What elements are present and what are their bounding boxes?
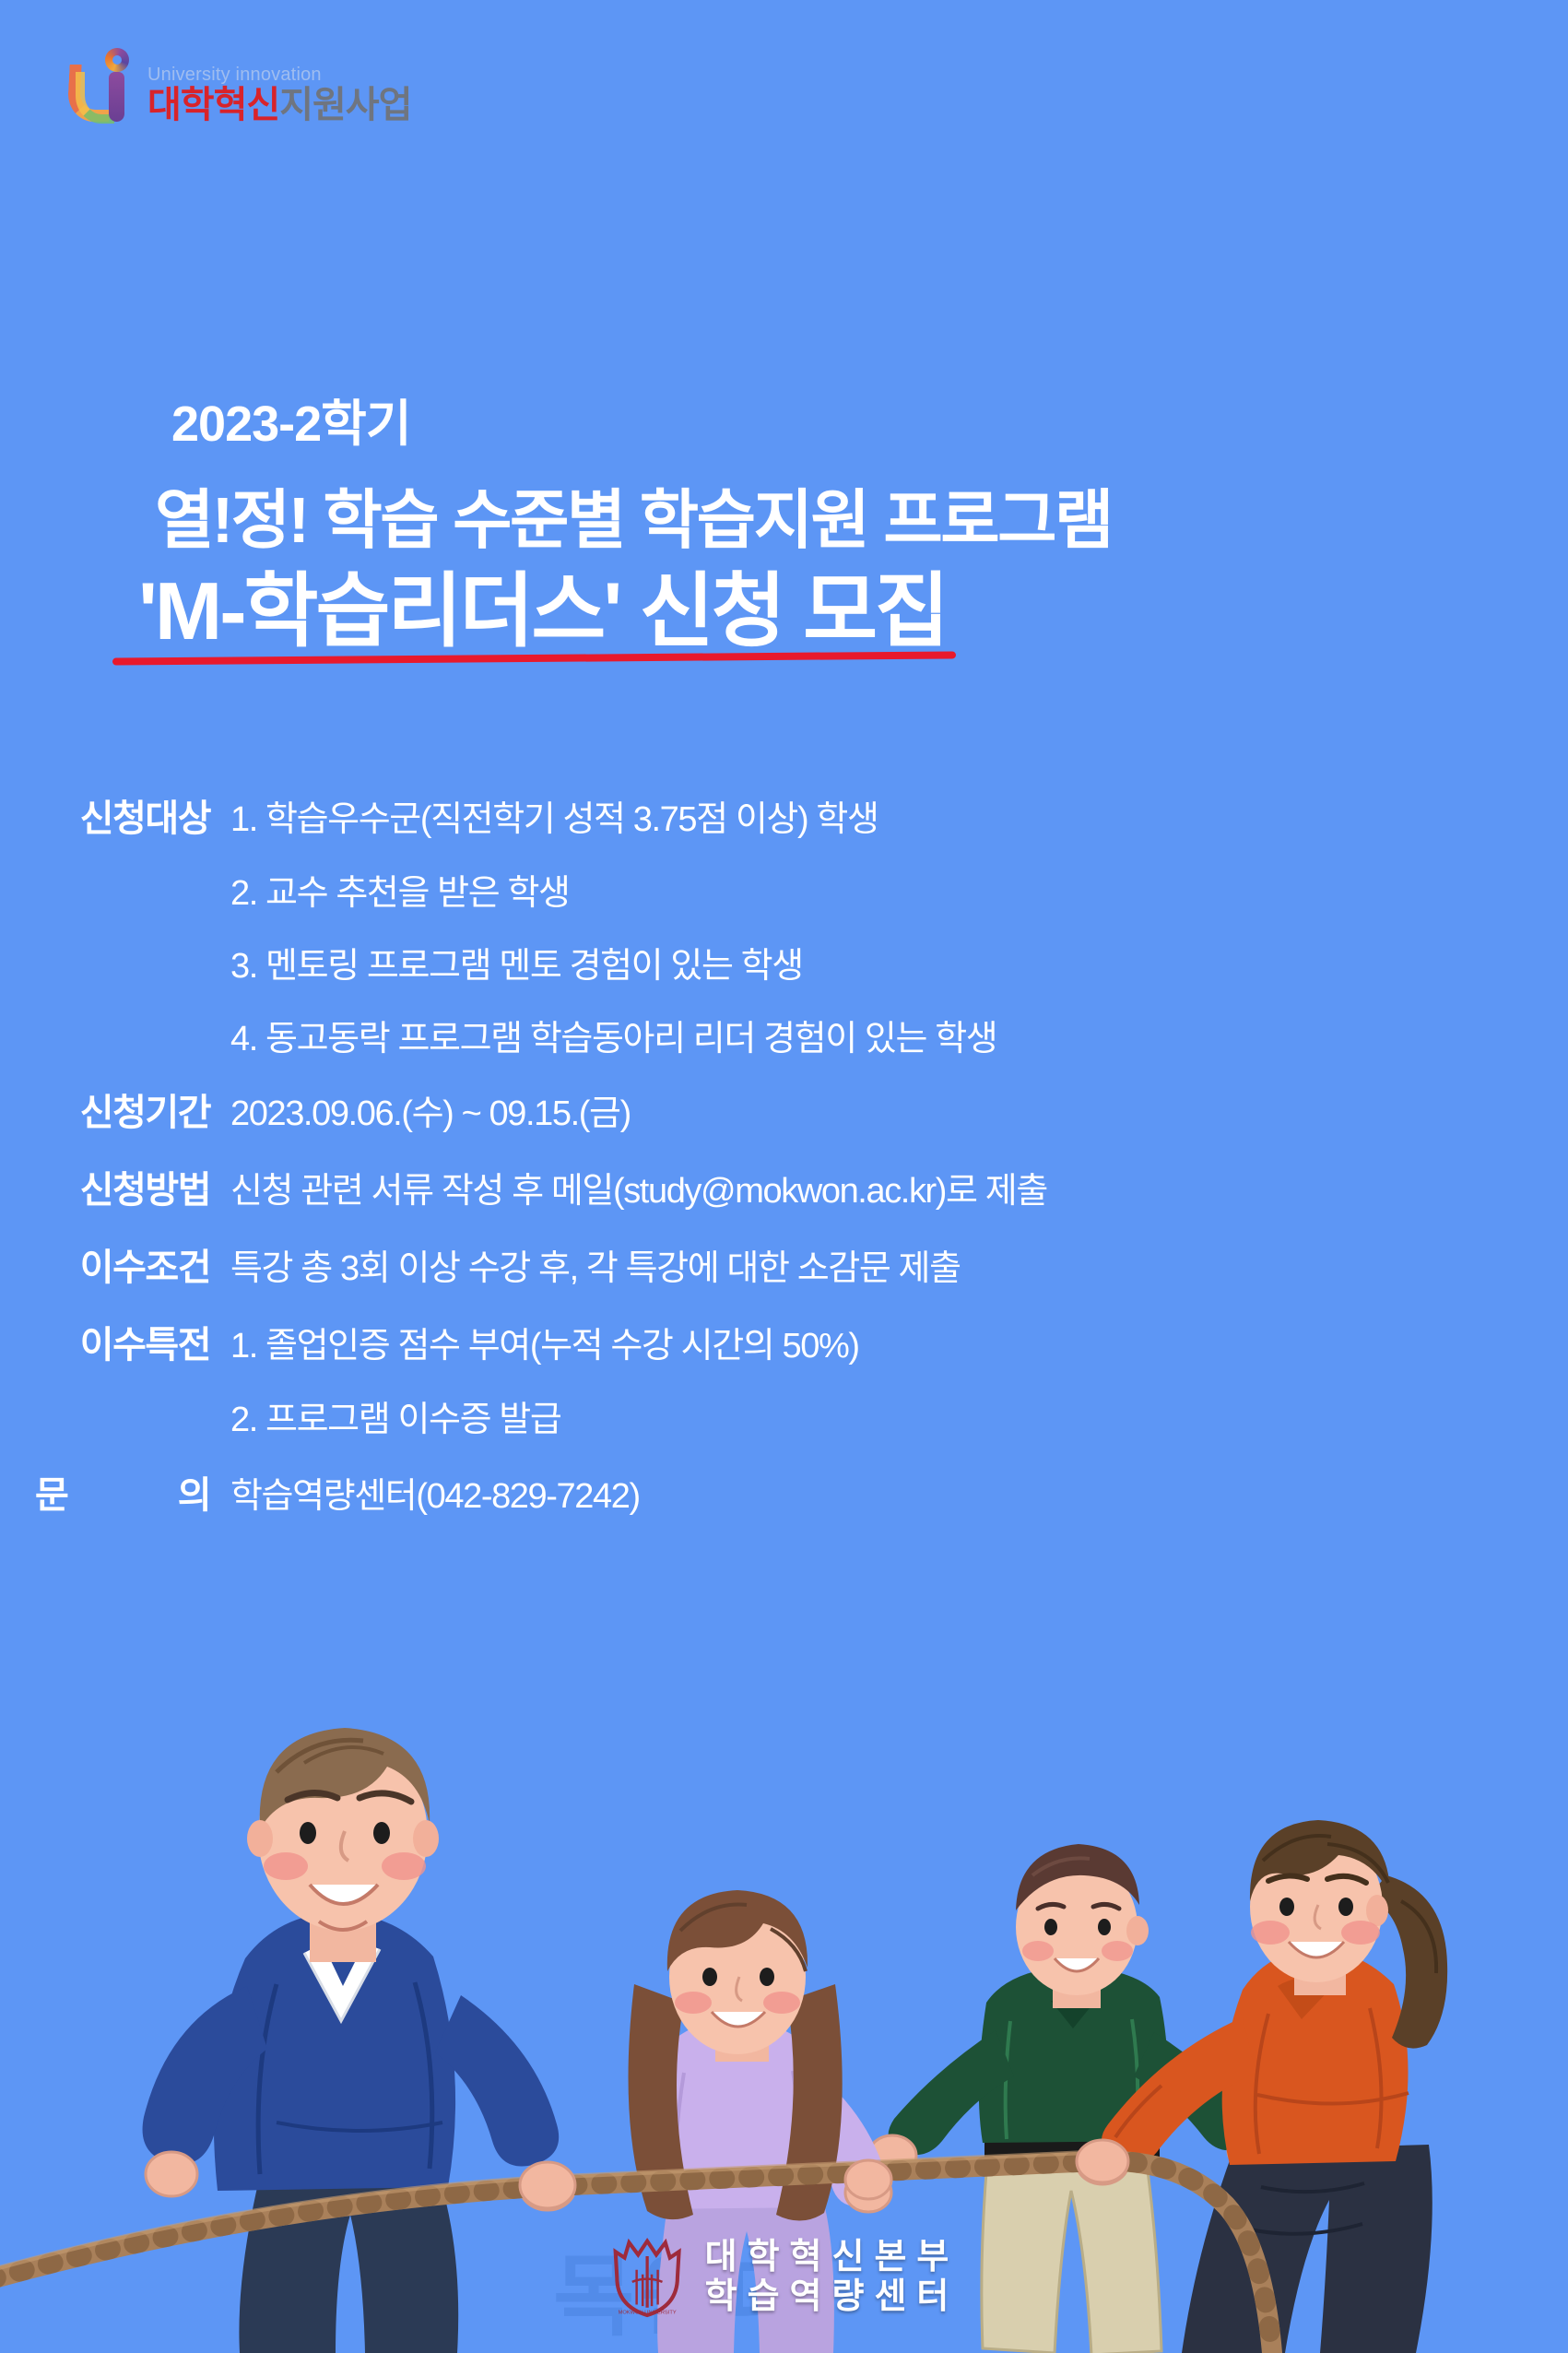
info-row-method: 신청방법 신청 관련 서류 작성 후 메일(study@mokwon.ac.kr… — [0, 1160, 1568, 1213]
info-label-contact-right: 의 — [178, 1465, 210, 1519]
info-value-target-2: 2. 교수 추천을 받은 학생 — [230, 864, 570, 915]
info-row-contact: 문 의 학습역량센터(042-829-7242) — [0, 1465, 1568, 1519]
info-value-method: 신청 관련 서류 작성 후 메일(study@mokwon.ac.kr)로 제출 — [230, 1162, 1047, 1212]
logo-korean-text: 대학혁신지원사업 — [147, 87, 411, 124]
info-label-period: 신청기간 — [0, 1082, 210, 1136]
info-row-benefit: 이수특전 1. 졸업인증 점수 부여(누적 수강 시간의 50%) — [0, 1315, 1568, 1368]
info-label-contact-left: 문 — [35, 1465, 67, 1519]
info-label-benefit: 이수특전 — [0, 1315, 210, 1368]
title-line-1: 열!정! 학습 수준별 학습지원 프로그램 — [155, 468, 1568, 562]
university-innovation-logo: University innovation 대학혁신지원사업 — [66, 44, 411, 125]
info-value-period: 2023.09.06.(수) ~ 09.15.(금) — [230, 1084, 631, 1135]
info-value-target-1: 1. 학습우수군(직전학기 성적 3.75점 이상) 학생 — [230, 790, 878, 841]
logo-text-group: University innovation 대학혁신지원사업 — [147, 65, 411, 125]
footer-line-2: 학습역량센터 — [705, 2277, 960, 2317]
info-row-target: 신청대상 1. 학습우수군(직전학기 성적 3.75점 이상) 학생 — [0, 788, 1568, 842]
logo-korean-gray: 지원사업 — [279, 85, 411, 125]
info-block: 신청대상 1. 학습우수군(직전학기 성적 3.75점 이상) 학생 2. 교수… — [0, 788, 1568, 1543]
info-value-benefit-2: 2. 프로그램 이수증 발급 — [230, 1390, 560, 1441]
info-row-benefit-2: 2. 프로그램 이수증 발급 — [0, 1390, 1568, 1441]
info-value-benefit-1: 1. 졸업인증 점수 부여(누적 수강 시간의 50%) — [230, 1317, 859, 1367]
ui-monogram-icon — [66, 44, 138, 125]
mokwon-university-seal-icon: MOKWON UNIVERSITY — [609, 2235, 685, 2320]
info-label-contact: 문 의 — [0, 1465, 210, 1519]
headline-block: 2023-2학기 열!정! 학습 수준별 학습지원 프로그램 'M-학습리더스'… — [0, 383, 1568, 656]
footer-text-group: 대학혁신본부 학습역량센터 — [705, 2238, 960, 2316]
info-value-condition: 특강 총 3회 이상 수강 후, 각 특강에 대한 소감문 제출 — [230, 1239, 961, 1290]
info-row-period: 신청기간 2023.09.06.(수) ~ 09.15.(금) — [0, 1082, 1568, 1136]
info-row-target-3: 3. 멘토링 프로그램 멘토 경험이 있는 학생 — [0, 937, 1568, 987]
seal-caption: MOKWON UNIVERSITY — [618, 2310, 676, 2315]
info-label-method: 신청방법 — [0, 1160, 210, 1213]
info-row-condition: 이수조건 특강 총 3회 이상 수강 후, 각 특강에 대한 소감문 제출 — [0, 1237, 1568, 1291]
info-label-target: 신청대상 — [0, 788, 210, 842]
title-line-2-wrapper: 'M-학습리더스' 신청 모집 — [138, 567, 947, 656]
info-value-target-3: 3. 멘토링 프로그램 멘토 경험이 있는 학생 — [230, 937, 803, 987]
info-row-target-4: 4. 동고동락 프로그램 학습동아리 리더 경험이 있는 학생 — [0, 1010, 1568, 1060]
semester-term: 2023-2학기 — [171, 383, 1568, 455]
info-label-condition: 이수조건 — [0, 1237, 210, 1291]
title-line-2: 'M-학습리더스' 신청 모집 — [138, 567, 947, 656]
footer-line-1: 대학혁신본부 — [705, 2238, 960, 2277]
info-row-target-2: 2. 교수 추천을 받은 학생 — [0, 864, 1568, 915]
logo-english-text: University innovation — [147, 65, 411, 84]
logo-korean-red: 대학혁신 — [147, 85, 279, 125]
poster-canvas: University innovation 대학혁신지원사업 2023-2학기 … — [0, 0, 1568, 2353]
info-value-contact: 학습역량센터(042-829-7242) — [230, 1467, 640, 1518]
footer-logo: MOKWON UNIVERSITY 대학혁신본부 학습역량센터 — [609, 2235, 960, 2320]
info-value-target-4: 4. 동고동락 프로그램 학습동아리 리더 경험이 있는 학생 — [230, 1010, 996, 1060]
